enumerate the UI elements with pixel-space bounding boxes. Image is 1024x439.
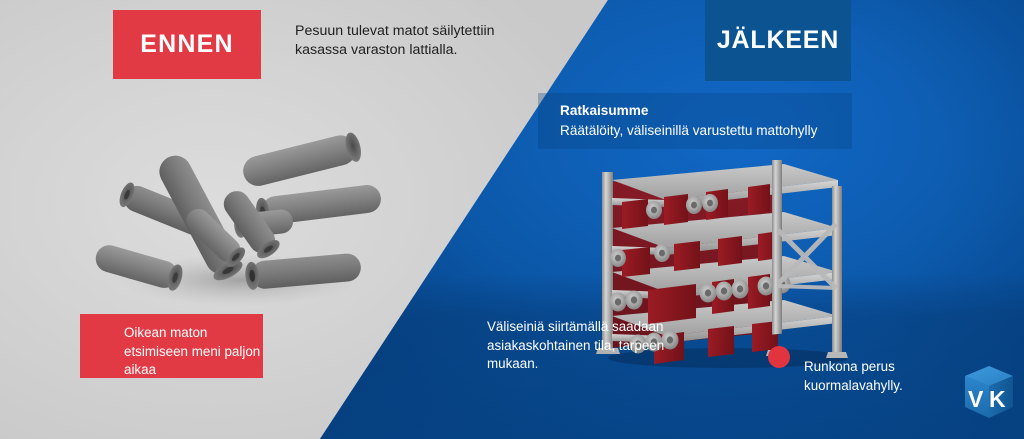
scattered-carpet-rolls-illustration	[90, 120, 390, 310]
dividers-note: Väliseiniä siirtämällä saadaan asiakasko…	[487, 318, 702, 374]
problem-callout-text: Oikean maton etsimiseen meni paljon aika…	[124, 324, 264, 380]
pointer-dot-marker	[768, 346, 790, 368]
vk-logo: V K	[958, 363, 1020, 425]
before-badge: ENNEN	[113, 10, 261, 79]
solution-title: Ratkaisumme	[560, 101, 890, 121]
frame-note: Runkona perus kuormalavahylly.	[804, 358, 964, 395]
infographic-canvas: ENNEN Pesuun tulevat matot säilytettiin …	[0, 0, 1024, 439]
solution-description: Räätälöity, väliseinillä varustettu matt…	[560, 121, 890, 141]
after-badge-label: JÄLKEEN	[717, 26, 839, 55]
problem-callout-box: Oikean maton etsimiseen meni paljon aika…	[80, 314, 263, 378]
before-caption: Pesuun tulevat matot säilytettiin kasass…	[295, 22, 545, 60]
before-badge-label: ENNEN	[140, 30, 234, 59]
solution-text-block: Ratkaisumme Räätälöity, väliseinillä var…	[560, 101, 890, 140]
logo-letter-v: V	[968, 386, 984, 412]
logo-letter-k: K	[989, 386, 1006, 412]
after-badge: JÄLKEEN	[705, 0, 851, 81]
